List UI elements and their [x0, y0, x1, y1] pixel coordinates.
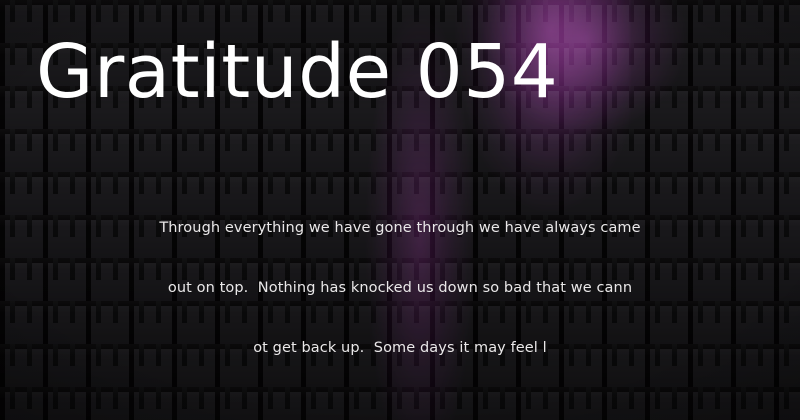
quote-line: ot get back up. Some days it may feel l — [60, 338, 740, 358]
gratitude-card: Gratitude 054 Through everything we have… — [0, 0, 800, 420]
quote-line: out on top. Nothing has knocked us down … — [60, 278, 740, 298]
card-content: Gratitude 054 Through everything we have… — [0, 0, 800, 420]
quote-text-block: Through everything we have gone through … — [0, 178, 800, 398]
page-title: Gratitude 054 — [36, 34, 558, 112]
quote-line: Through everything we have gone through … — [60, 218, 740, 238]
